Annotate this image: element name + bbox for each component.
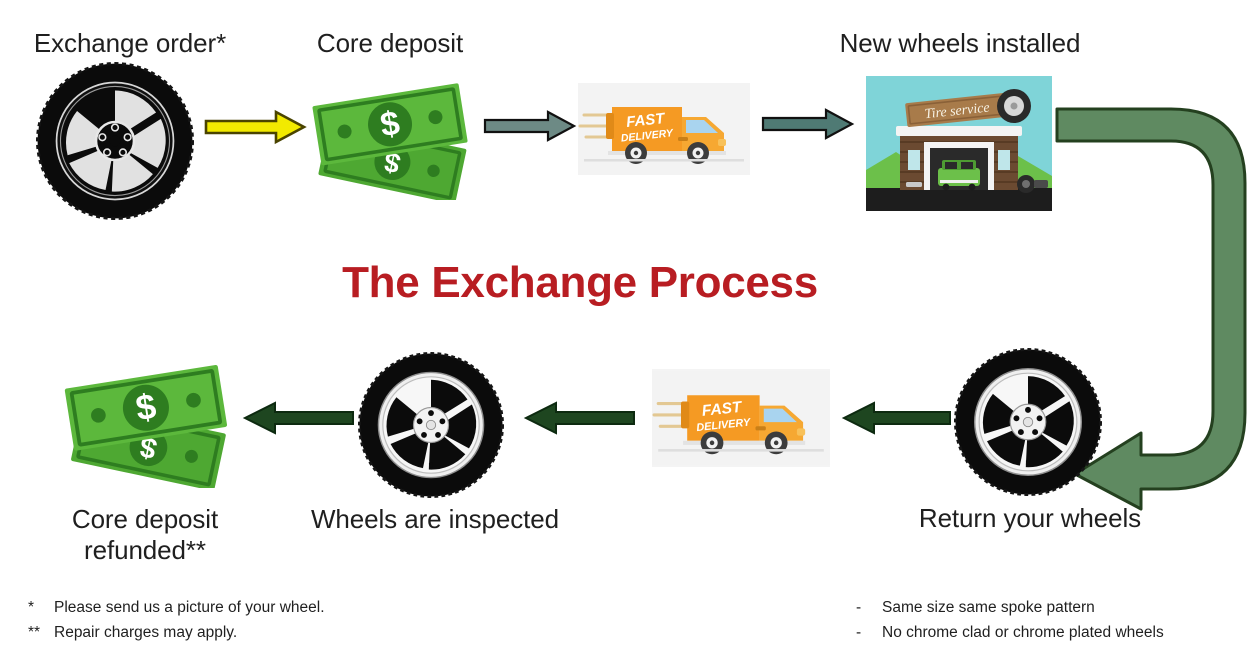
- label-core-deposit-refunded: Core deposit refunded**: [20, 504, 270, 565]
- page-title: The Exchange Process: [0, 258, 1160, 308]
- label-core-deposit: Core deposit: [280, 28, 500, 59]
- fast-delivery-truck-icon-bottom: FAST DELIVERY: [652, 369, 830, 467]
- refund-label-line2: refunded**: [84, 535, 206, 565]
- footnote-item: ** Repair charges may apply.: [28, 620, 325, 645]
- footnote-marker: -: [856, 620, 882, 645]
- footnote-marker: *: [28, 595, 54, 620]
- footnotes-right: - Same size same spoke pattern - No chro…: [856, 595, 1164, 645]
- arrow-truck-to-inspect: [524, 401, 636, 435]
- cash-banknotes-icon: $ $: [306, 72, 478, 200]
- label-wheels-are-inspected: Wheels are inspected: [300, 504, 570, 535]
- arrow-truck-to-shop: [762, 108, 854, 140]
- fast-delivery-truck-icon-top: FAST DELIVERY: [578, 83, 750, 175]
- refund-label-line1: Core deposit: [72, 504, 218, 534]
- footnotes-left: * Please send us a picture of your wheel…: [28, 595, 325, 645]
- footnote-marker: -: [856, 595, 882, 620]
- arrow-deposit-to-truck: [484, 110, 576, 142]
- footnote-marker: **: [28, 620, 54, 645]
- arrow-inspect-to-refund: [243, 401, 355, 435]
- footnote-text: No chrome clad or chrome plated wheels: [882, 620, 1164, 645]
- chrome-alloy-wheel-icon-return: [954, 348, 1102, 496]
- exchange-process-diagram: Exchange order*: [0, 0, 1250, 666]
- dark-alloy-wheel-icon: [36, 62, 194, 220]
- chrome-alloy-wheel-icon-inspected: [358, 352, 504, 498]
- cash-banknotes-icon-refund: $ $: [58, 352, 238, 488]
- label-exchange-order: Exchange order*: [0, 28, 260, 59]
- arrow-return-to-truck: [842, 401, 952, 435]
- tire-service-shop-icon: Tire service: [866, 76, 1052, 211]
- footnote-item: - Same size same spoke pattern: [856, 595, 1164, 620]
- arrow-order-to-deposit: [204, 110, 306, 144]
- footnote-item: - No chrome clad or chrome plated wheels: [856, 620, 1164, 645]
- label-return-your-wheels: Return your wheels: [890, 503, 1170, 534]
- footnote-item: * Please send us a picture of your wheel…: [28, 595, 325, 620]
- label-new-wheels-installed: New wheels installed: [810, 28, 1110, 59]
- footnote-text: Please send us a picture of your wheel.: [54, 595, 325, 620]
- footnote-text: Same size same spoke pattern: [882, 595, 1095, 620]
- footnote-text: Repair charges may apply.: [54, 620, 237, 645]
